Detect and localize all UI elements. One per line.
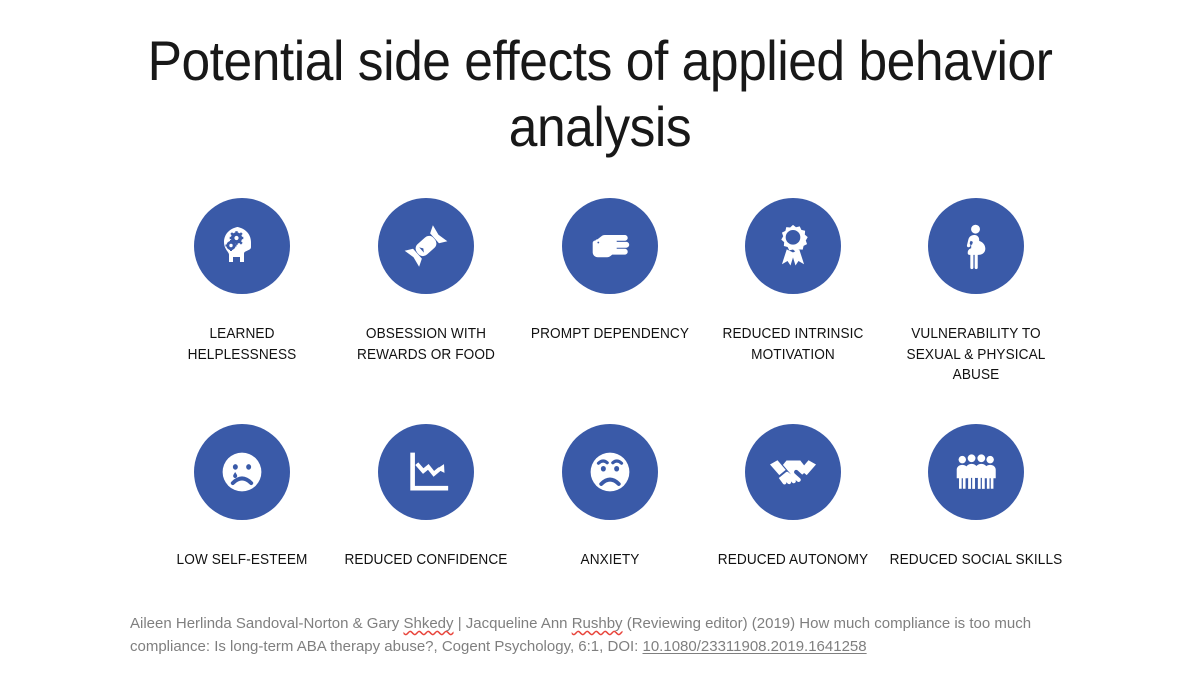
icon-badge — [745, 424, 841, 520]
side-effect-label: ANXIETY — [524, 550, 697, 571]
icon-badge — [194, 424, 290, 520]
icon-badge — [928, 424, 1024, 520]
side-effects-grid: LEARNED HELPLESSNESS OBSESSION WITH REWA… — [0, 0, 1200, 676]
citation-part-2: | Jacqueline Ann — [454, 615, 572, 632]
sad-face-tear-icon — [218, 448, 266, 496]
side-effect-item-anxiety[interactable]: ANXIETY — [518, 424, 702, 571]
icon-badge — [562, 198, 658, 294]
side-effect-item-prompt-dependency[interactable]: PROMPT DEPENDENCY — [518, 198, 702, 345]
side-effect-item-reduced-confidence[interactable]: REDUCED CONFIDENCE — [334, 424, 518, 571]
side-effect-item-reduced-social-skills[interactable]: REDUCED SOCIAL SKILLS — [884, 424, 1068, 571]
pregnant-woman-icon — [951, 221, 1001, 271]
icon-badge — [562, 424, 658, 520]
side-effect-label: REDUCED INTRINSIC MOTIVATION — [707, 324, 880, 365]
icon-badge — [928, 198, 1024, 294]
side-effect-item-vulnerability-to-sexual-physical-abuse[interactable]: VULNERABILITY TO SEXUAL & PHYSICAL ABUSE — [884, 198, 1068, 386]
icon-badge — [745, 198, 841, 294]
candy-icon — [400, 220, 452, 272]
group-of-people-icon — [953, 449, 999, 495]
side-effect-item-obsession-with-rewards-or-food[interactable]: OBSESSION WITH REWARDS OR FOOD — [334, 198, 518, 365]
side-effect-label: LEARNED HELPLESSNESS — [156, 324, 329, 365]
head-with-gears-icon — [216, 220, 268, 272]
handshake-icon — [767, 446, 819, 498]
icon-badge — [378, 424, 474, 520]
pointing-hand-icon — [584, 220, 636, 272]
declining-chart-icon — [402, 448, 450, 496]
side-effect-label: OBSESSION WITH REWARDS OR FOOD — [340, 324, 513, 365]
side-effect-label: VULNERABILITY TO SEXUAL & PHYSICAL ABUSE — [890, 324, 1063, 386]
misspelled-word-shkedy: Shkedy — [403, 615, 453, 632]
side-effect-label: REDUCED AUTONOMY — [707, 550, 880, 571]
award-ribbon-icon — [768, 221, 818, 271]
side-effect-item-learned-helplessness[interactable]: LEARNED HELPLESSNESS — [150, 198, 334, 365]
misspelled-word-rushby: Rushby — [572, 615, 623, 632]
side-effect-item-reduced-autonomy[interactable]: REDUCED AUTONOMY — [701, 424, 885, 571]
citation-text: Aileen Herlinda Sandoval-Norton & Gary S… — [130, 612, 1075, 659]
side-effect-label: LOW SELF-ESTEEM — [156, 550, 329, 571]
side-effect-label: REDUCED CONFIDENCE — [340, 550, 513, 571]
icon-badge — [378, 198, 474, 294]
citation-part-1: Aileen Herlinda Sandoval-Norton & Gary — [130, 615, 403, 632]
icon-badge — [194, 198, 290, 294]
side-effect-label: REDUCED SOCIAL SKILLS — [890, 550, 1063, 571]
worried-face-icon — [586, 448, 634, 496]
doi-link[interactable]: 10.1080/23311908.2019.1641258 — [643, 638, 867, 655]
side-effect-item-low-self-esteem[interactable]: LOW SELF-ESTEEM — [150, 424, 334, 571]
side-effect-label: PROMPT DEPENDENCY — [524, 324, 697, 345]
side-effect-item-reduced-intrinsic-motivation[interactable]: REDUCED INTRINSIC MOTIVATION — [701, 198, 885, 365]
